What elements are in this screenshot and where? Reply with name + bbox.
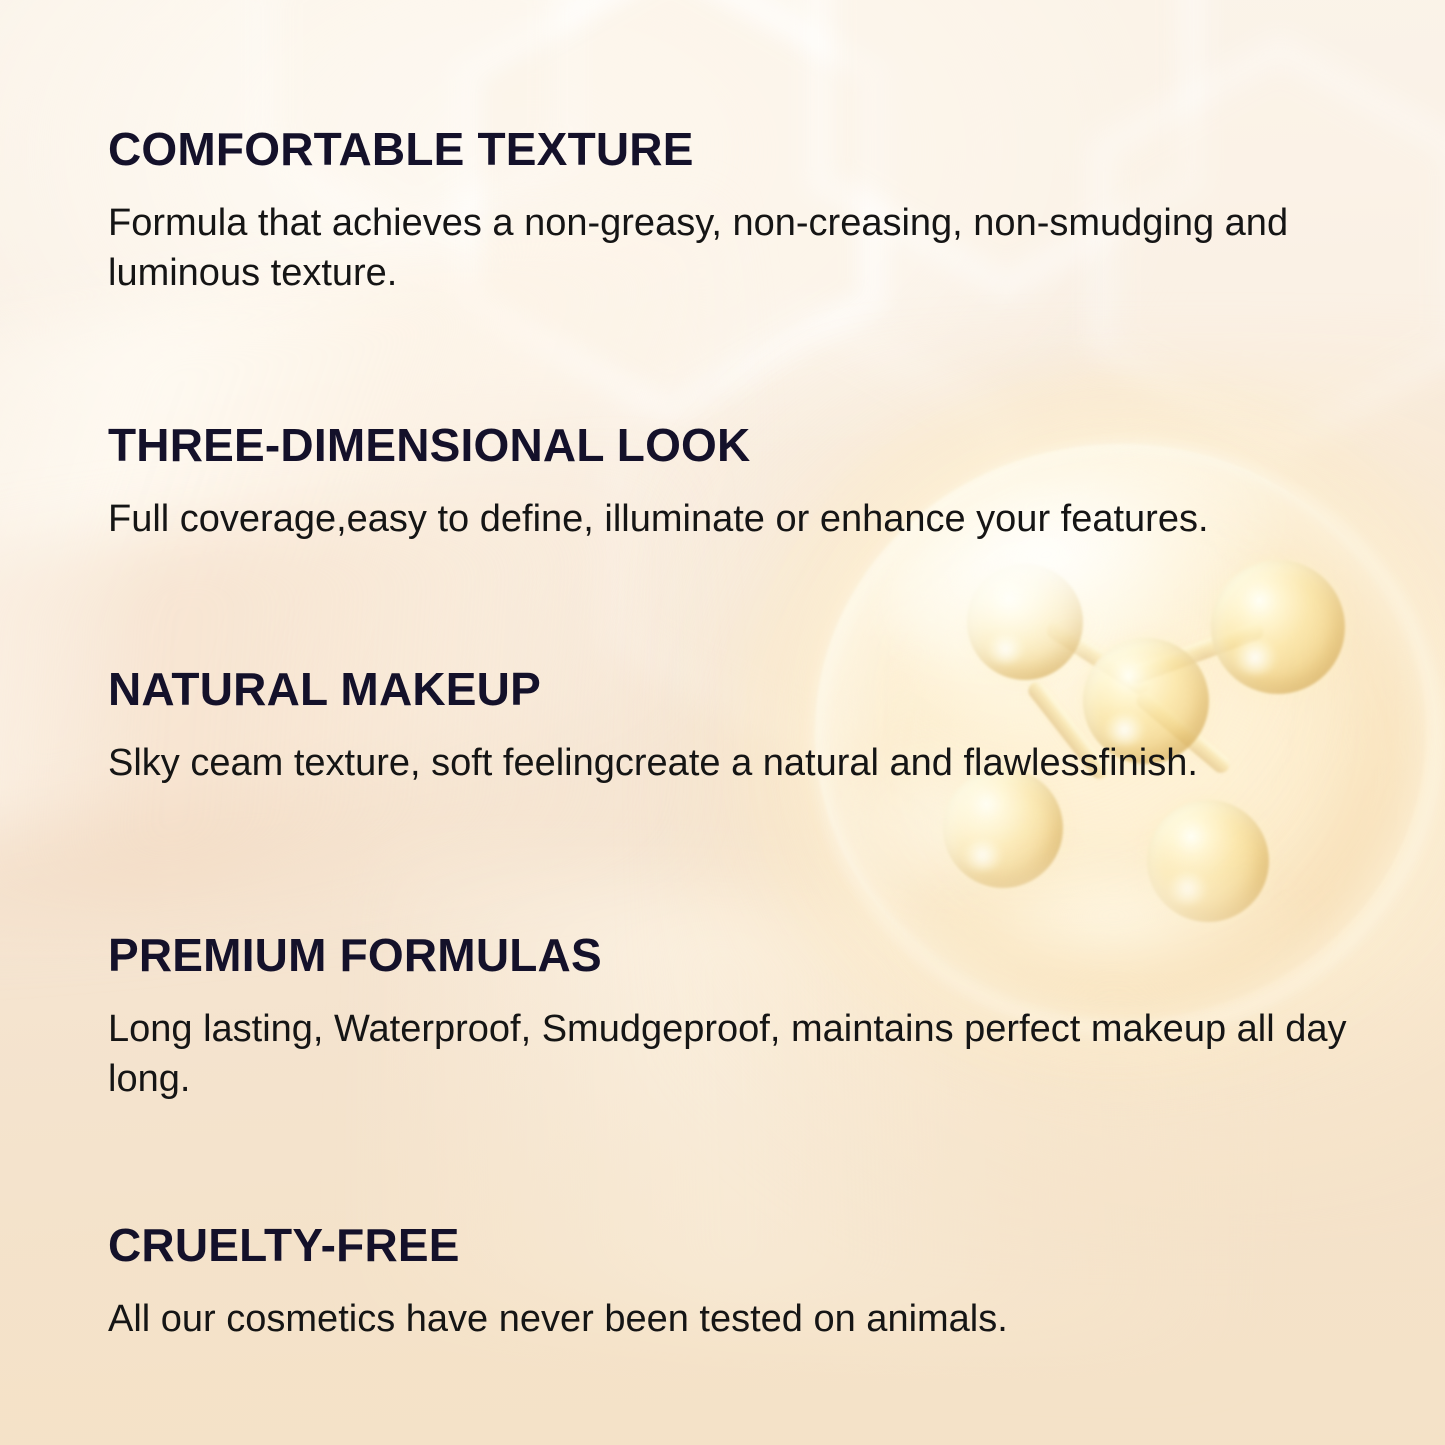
feature-natural-makeup: NATURAL MAKEUP Slky ceam texture, soft f… [108, 666, 1198, 788]
feature-cruelty-free: CRUELTY-FREE All our cosmetics have neve… [108, 1222, 1008, 1344]
feature-heading: COMFORTABLE TEXTURE [108, 126, 1373, 172]
feature-comfortable-texture: COMFORTABLE TEXTURE Formula that achieve… [108, 126, 1373, 298]
product-feature-graphic: COMFORTABLE TEXTURE Formula that achieve… [0, 0, 1445, 1445]
feature-body: Slky ceam texture, soft feelingcreate a … [108, 738, 1198, 788]
feature-premium-formulas: PREMIUM FORMULAS Long lasting, Waterproo… [108, 932, 1373, 1104]
feature-heading: CRUELTY-FREE [108, 1222, 1008, 1268]
feature-heading: PREMIUM FORMULAS [108, 932, 1373, 978]
feature-body: Full coverage,easy to define, illuminate… [108, 494, 1209, 544]
feature-body: Formula that achieves a non-greasy, non-… [108, 198, 1373, 298]
feature-body: All our cosmetics have never been tested… [108, 1294, 1008, 1344]
feature-list: COMFORTABLE TEXTURE Formula that achieve… [0, 0, 1445, 1445]
feature-heading: THREE-DIMENSIONAL LOOK [108, 422, 1209, 468]
feature-body: Long lasting, Waterproof, Smudgeproof, m… [108, 1004, 1373, 1104]
feature-heading: NATURAL MAKEUP [108, 666, 1198, 712]
feature-three-dimensional-look: THREE-DIMENSIONAL LOOK Full coverage,eas… [108, 422, 1209, 544]
